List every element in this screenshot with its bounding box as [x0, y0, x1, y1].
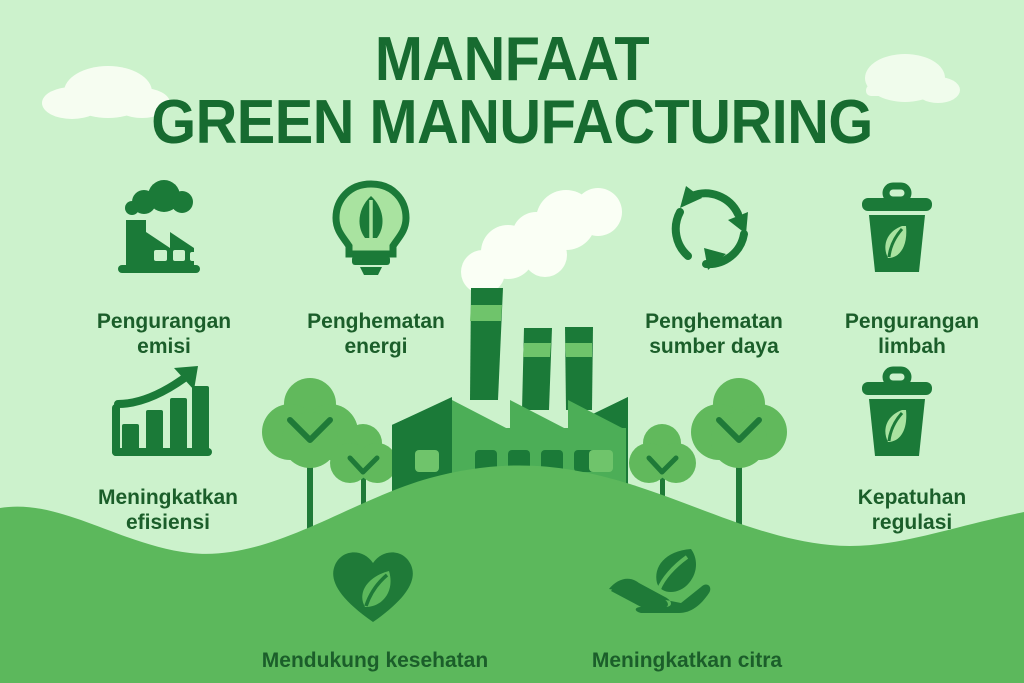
- recycle-arrows-icon: [662, 182, 758, 279]
- benefit-label-pengurangan-emisi: Pengurangan emisi: [54, 283, 274, 385]
- benefit-label-mendukung-kesehatan: Mendukung kesehatan: [210, 622, 540, 683]
- benefit-text: Penghematan sumber daya: [608, 309, 820, 360]
- title-line-2: GREEN MANUFACTURING: [36, 91, 988, 154]
- title-line-1: MANFAAT: [36, 28, 988, 91]
- benefit-text: Meningkatkan citra: [548, 648, 826, 674]
- benefit-text: Penghematan energi: [272, 309, 480, 360]
- trash-leaf-icon: [856, 182, 938, 283]
- factory-smoke-icon: [100, 180, 218, 281]
- benefit-text: Pengurangan emisi: [54, 309, 274, 360]
- chimney-mid: [522, 328, 552, 410]
- chimney-short: [565, 327, 593, 410]
- benefit-text: Mendukung kesehatan: [210, 648, 540, 674]
- benefit-label-pengurangan-limbah: Pengurangan limbah: [812, 283, 1012, 385]
- hand-leaf-icon: [607, 545, 717, 632]
- benefit-label-meningkatkan-citra: Meningkatkan citra: [548, 622, 826, 683]
- page-title: MANFAAT GREEN MANUFACTURING: [0, 28, 1024, 154]
- lightbulb-leaf-icon: [322, 178, 420, 283]
- benefit-label-kepatuhan-regulasi: Kepatuhan regulasi: [812, 459, 1012, 561]
- benefit-text: Pengurangan limbah: [812, 309, 1012, 360]
- benefit-label-penghematan-energi: Penghematan energi: [272, 283, 480, 385]
- heart-leaf-icon: [327, 545, 419, 630]
- infographic-canvas: MANFAAT GREEN MANUFACTURING: [0, 0, 1024, 683]
- benefit-label-meningkatkan-efisiensi: Meningkatkan efisiensi: [56, 459, 280, 561]
- benefit-label-penghematan-sumber-daya: Penghematan sumber daya: [608, 283, 820, 385]
- benefit-text: Kepatuhan regulasi: [812, 485, 1012, 536]
- benefit-text: Meningkatkan efisiensi: [56, 485, 280, 536]
